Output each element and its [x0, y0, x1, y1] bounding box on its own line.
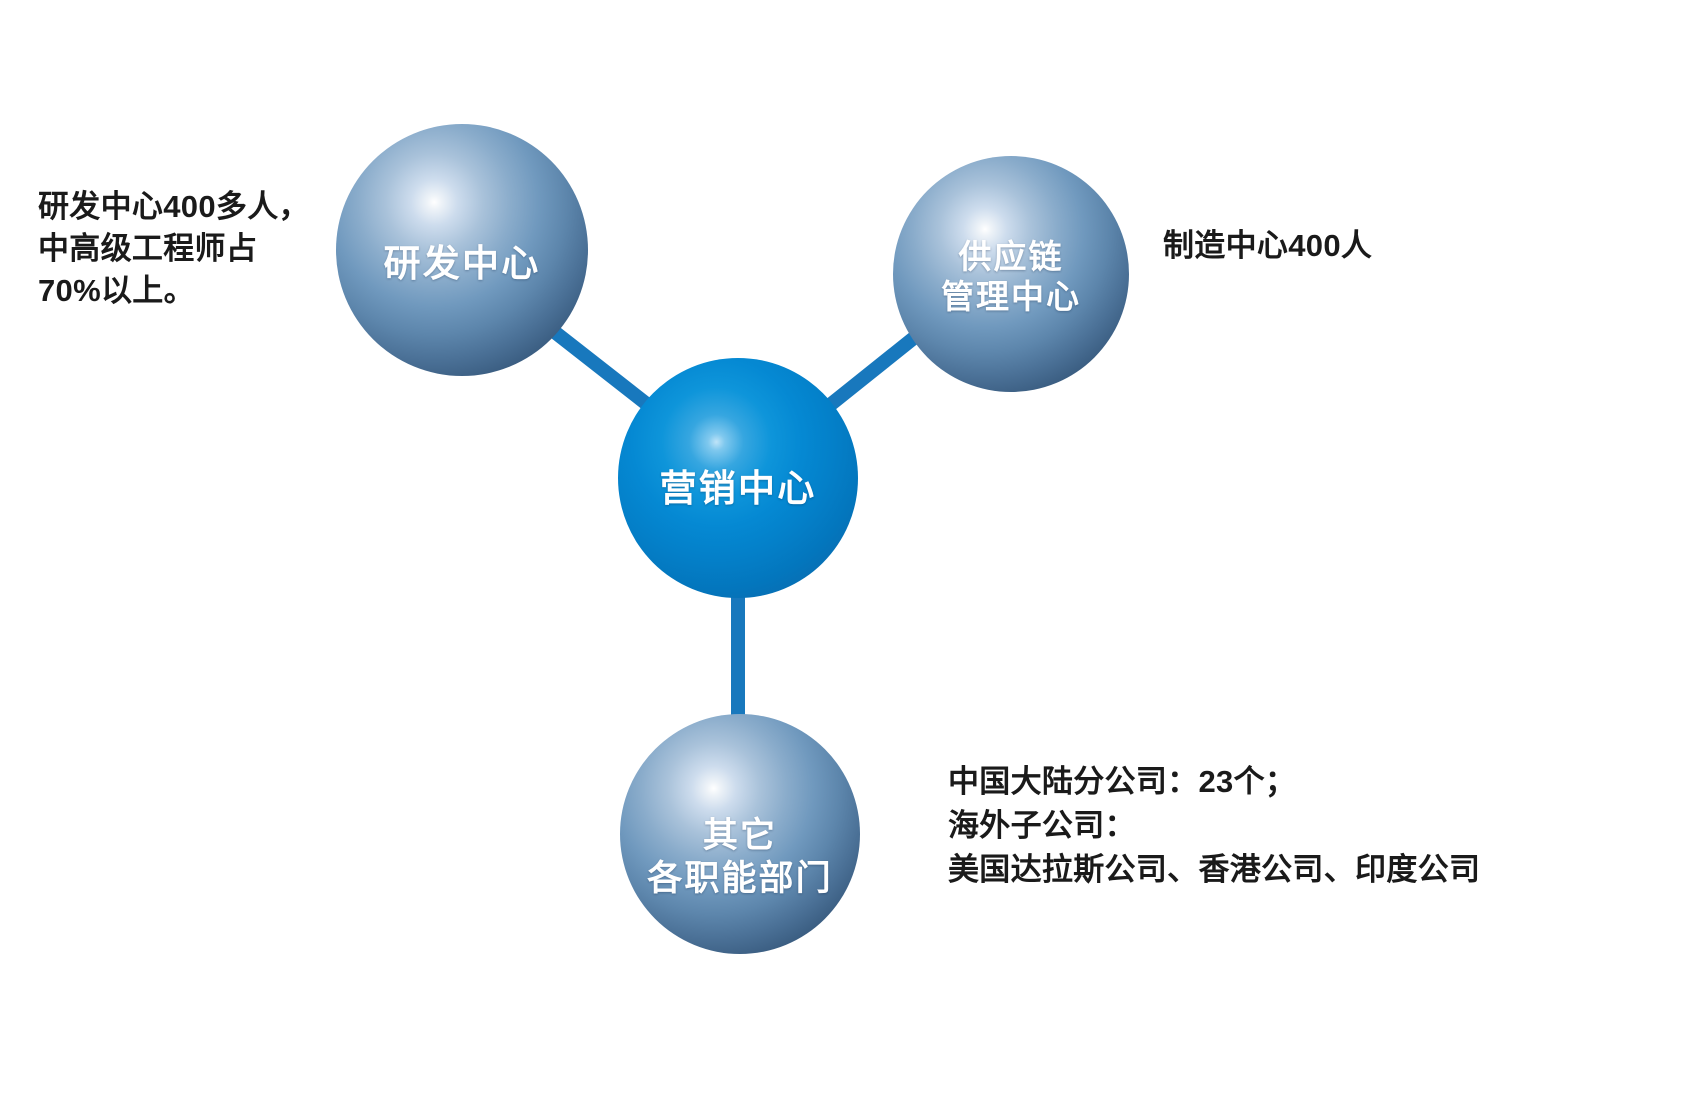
node-rd-center[interactable]: 研发中心	[336, 124, 588, 376]
note-subsidiaries: 中国大陆分公司：23个； 海外子公司： 美国达拉斯公司、香港公司、印度公司	[948, 760, 1588, 892]
node-rd-center-label: 研发中心	[384, 241, 541, 286]
node-marketing-center[interactable]: 营销中心	[618, 358, 858, 598]
node-marketing-center-label: 营销中心	[660, 466, 817, 511]
note-rd-center: 研发中心400多人， 中高级工程师占 70%以上。	[38, 186, 338, 312]
note-manufacturing-center: 制造中心400人	[1163, 224, 1583, 268]
node-supply-chain-management-center-label: 供应链 管理中心	[941, 237, 1081, 318]
connector-lines	[0, 0, 1695, 1099]
node-other-functional-departments-label: 其它 各职能部门	[647, 815, 833, 900]
node-supply-chain-management-center[interactable]: 供应链 管理中心	[893, 156, 1129, 392]
diagram-canvas: 研发中心 供应链 管理中心 营销中心 其它 各职能部门 研发中心400多人， 中…	[0, 0, 1695, 1099]
node-other-functional-departments[interactable]: 其它 各职能部门	[620, 714, 860, 954]
